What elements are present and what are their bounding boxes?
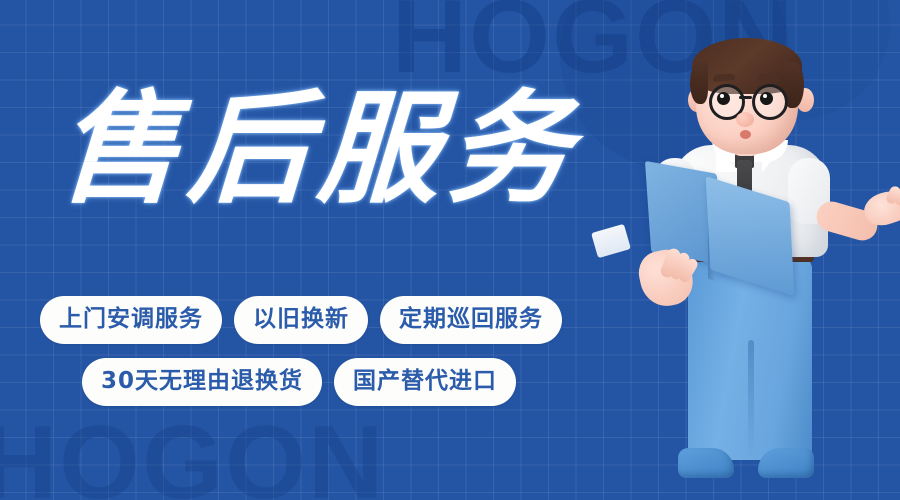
feature-pill-row-1: 上门安调服务 以旧换新 定期巡回服务 — [40, 296, 680, 344]
feature-pill[interactable]: 30天无理由退换货 — [82, 358, 322, 406]
feature-pill[interactable]: 定期巡回服务 — [380, 296, 562, 344]
eye-right — [760, 92, 773, 105]
mouth — [740, 130, 751, 139]
hair-sideburn-left — [690, 62, 708, 104]
eye-left — [717, 92, 730, 105]
shoe-right — [758, 448, 814, 478]
feature-pill[interactable]: 上门安调服务 — [40, 296, 222, 344]
feature-pill-row-2: 30天无理由退换货 国产替代进口 — [40, 358, 680, 406]
nose — [736, 112, 754, 127]
glasses-bridge — [739, 96, 752, 99]
leg-seam — [748, 340, 754, 458]
feature-pill-group: 上门安调服务 以旧换新 定期巡回服务 30天无理由退换货 国产替代进口 — [40, 296, 680, 406]
shoe-left — [678, 448, 734, 478]
character-illustration — [612, 40, 900, 500]
feature-pill[interactable]: 国产替代进口 — [334, 358, 516, 406]
feature-pill[interactable]: 以旧换新 — [234, 296, 368, 344]
after-sales-service-banner: HOGON HOGON — [0, 0, 900, 500]
banner-title: 售后服务 — [55, 88, 581, 210]
watermark-bottom: HOGON — [0, 404, 385, 500]
